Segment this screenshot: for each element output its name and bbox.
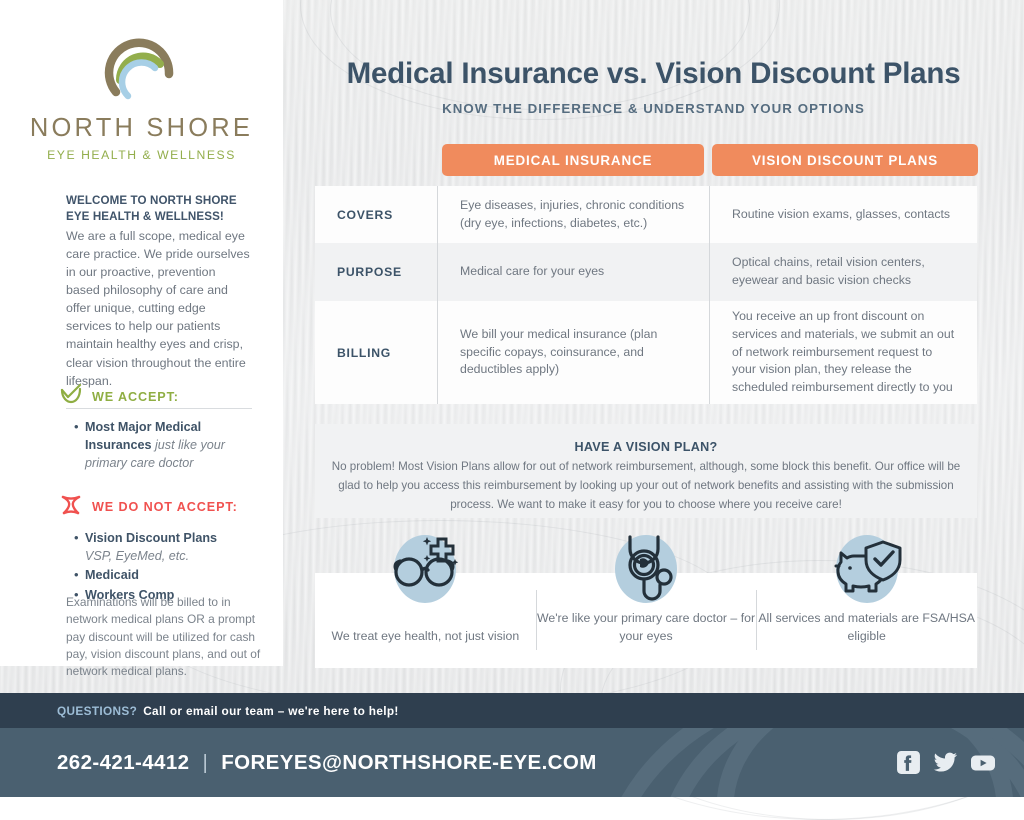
logo-name: NORTH SHORE — [0, 116, 283, 142]
phone-number[interactable]: 262-421-4412 — [57, 751, 189, 775]
questions-label: QUESTIONS? — [57, 704, 137, 718]
logo: NORTH SHORE EYE HEALTH & WELLNESS — [0, 30, 283, 161]
footer-contact: 262-421-4412 | FOREYES@NORTHSHORE-EYE.CO… — [57, 728, 597, 797]
table-row: BILLING We bill your medical insurance (… — [315, 301, 977, 404]
facebook-icon[interactable] — [896, 750, 921, 775]
cell-vision: Optical chains, retail vision centers, e… — [709, 243, 977, 301]
row-label: BILLING — [315, 301, 437, 404]
vision-plan-note: HAVE A VISION PLAN? No problem! Most Vis… — [315, 424, 977, 518]
note-body: No problem! Most Vision Plans allow for … — [315, 458, 977, 514]
benefit-card-text: We treat eye health, not just vision — [315, 628, 536, 646]
column-headers: MEDICAL INSURANCE VISION DISCOUNT PLANS — [442, 144, 978, 176]
cell-medical: We bill your medical insurance (plan spe… — [437, 301, 709, 404]
benefit-card: All services and materials are FSA/HSA e… — [756, 573, 977, 668]
benefit-cards: We treat eye health, not just vision — [315, 573, 977, 668]
email-address[interactable]: FOREYES@NORTHSHORE-EYE.COM — [221, 751, 597, 775]
row-label: PURPOSE — [315, 243, 437, 301]
item-italic: VSP, EyeMed, etc. — [85, 549, 189, 563]
we-do-not-accept-title: WE DO NOT ACCEPT: — [92, 500, 238, 514]
we-accept-title: WE ACCEPT: — [92, 390, 179, 404]
logo-tagline: EYE HEALTH & WELLNESS — [0, 149, 283, 161]
main-content: Medical Insurance vs. Vision Discount Pl… — [283, 0, 1024, 693]
item-bold: Medicaid — [85, 568, 139, 582]
sidebar-footnote: Examinations will be billed to in networ… — [66, 594, 266, 680]
benefit-card: We treat eye health, not just vision — [315, 573, 536, 668]
page-subtitle: KNOW THE DIFFERENCE & UNDERSTAND YOUR OP… — [283, 101, 1024, 116]
note-heading: HAVE A VISION PLAN? — [315, 440, 977, 454]
separator: | — [202, 751, 208, 775]
cell-vision: Routine vision exams, glasses, contacts — [709, 186, 977, 243]
comparison-table: COVERS Eye diseases, injuries, chronic c… — [315, 186, 977, 404]
acceptance-lists: WE ACCEPT: Most Major Medical Insurances… — [60, 384, 260, 607]
benefit-card: We're like your primary care doctor – fo… — [536, 573, 757, 668]
footer-questions: QUESTIONS? Call or email our team – we'r… — [57, 693, 399, 728]
row-label: COVERS — [315, 186, 437, 243]
we-do-not-accept-header: WE DO NOT ACCEPT: — [60, 495, 260, 520]
list-item: Vision Discount Plans VSP, EyeMed, etc. — [74, 530, 260, 566]
welcome-heading: WELCOME TO NORTH SHORE EYE HEALTH & WELL… — [66, 193, 252, 225]
we-accept-list: Most Major Medical Insurances just like … — [74, 419, 260, 473]
infographic-page: NORTH SHORE EYE HEALTH & WELLNESS WELCOM… — [0, 0, 1024, 797]
list-item: Most Major Medical Insurances just like … — [74, 419, 260, 473]
cell-medical: Medical care for your eyes — [437, 243, 709, 301]
cell-vision: You receive an up front discount on serv… — [709, 301, 977, 404]
page-title: Medical Insurance vs. Vision Discount Pl… — [283, 57, 1024, 91]
sidebar: NORTH SHORE EYE HEALTH & WELLNESS WELCOM… — [0, 0, 283, 666]
youtube-icon[interactable] — [970, 750, 996, 775]
item-bold: Vision Discount Plans — [85, 531, 217, 545]
welcome-body: We are a full scope, medical eye care pr… — [66, 227, 252, 390]
piggy-bank-shield-check-icon — [825, 525, 909, 609]
eyeglasses-medical-cross-icon — [383, 525, 467, 609]
benefit-card-text: All services and materials are FSA/HSA e… — [756, 610, 977, 646]
x-icon — [60, 495, 82, 520]
cell-medical: Eye diseases, injuries, chronic conditio… — [437, 186, 709, 243]
stethoscope-eye-icon — [604, 525, 688, 609]
arc-swoosh-logo-icon — [94, 30, 190, 108]
twitter-icon[interactable] — [933, 750, 958, 775]
list-item: Medicaid — [74, 567, 260, 585]
table-row: PURPOSE Medical care for your eyes Optic… — [315, 243, 977, 301]
benefit-card-text: We're like your primary care doctor – fo… — [536, 610, 757, 646]
header-medical-insurance: MEDICAL INSURANCE — [442, 144, 704, 176]
questions-text: Call or email our team – we're here to h… — [143, 704, 399, 718]
header-vision-discount-plans: VISION DISCOUNT PLANS — [712, 144, 978, 176]
check-icon — [60, 384, 82, 409]
social-links — [896, 728, 996, 797]
table-row: COVERS Eye diseases, injuries, chronic c… — [315, 186, 977, 243]
footer: QUESTIONS? Call or email our team – we'r… — [0, 693, 1024, 797]
we-accept-header: WE ACCEPT: — [60, 384, 260, 409]
welcome-block: WELCOME TO NORTH SHORE EYE HEALTH & WELL… — [66, 193, 252, 409]
